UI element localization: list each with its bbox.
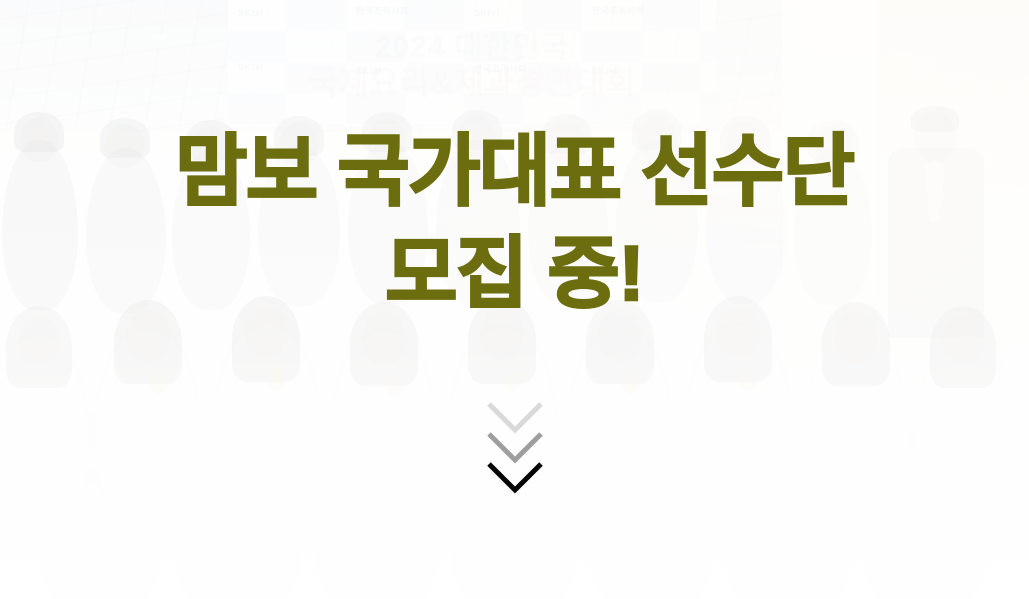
headline-line-2: 모집 중!	[175, 234, 853, 314]
page-title: 맘보 국가대표 선수단 모집 중!	[175, 0, 853, 313]
chevron-down-icon-3	[489, 464, 541, 490]
chevron-down-icon-1	[489, 404, 541, 430]
hero-banner: SKtel 한국조리사회 SKtel 한국조리사회 SKtel SKtel 한국…	[0, 0, 1029, 599]
chevron-down-icon-2	[489, 434, 541, 460]
scroll-down-button[interactable]	[479, 392, 551, 508]
headline-line-1: 맘보 국가대표 선수단	[175, 132, 853, 212]
hero-content: 맘보 국가대표 선수단 모집 중!	[0, 0, 1029, 599]
